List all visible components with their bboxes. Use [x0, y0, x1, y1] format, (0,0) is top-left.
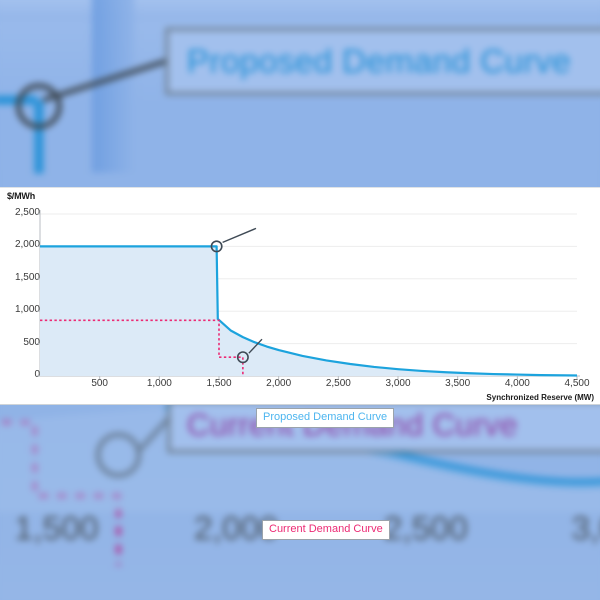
x-axis-tick-label: 500: [91, 378, 108, 389]
x-axis-tick-label: 2,000: [266, 378, 291, 389]
callout-current-demand-curve[interactable]: Current Demand Curve: [262, 520, 390, 540]
callout-proposed-demand-curve[interactable]: Proposed Demand Curve: [256, 408, 394, 428]
x-axis-tick-label: 1,500: [206, 378, 231, 389]
background-callout-proposed-label: Proposed Demand Curve: [187, 42, 571, 81]
plot-area: [0, 188, 600, 406]
x-axis-tick-label: 3,500: [445, 378, 470, 389]
chart-panel: $/MWh Synchronized Reserve (MW) 05001,00…: [0, 187, 600, 405]
x-axis-tick-label: 1,000: [147, 378, 172, 389]
x-axis-tick-label: 3,000: [385, 378, 410, 389]
slide-stage: Proposed Demand Curve Current Demand Cur…: [0, 0, 600, 600]
background-callout-proposed: Proposed Demand Curve: [165, 28, 600, 95]
background-x-tick: 1,500: [14, 509, 98, 548]
x-axis-tick-label: 2,500: [326, 378, 351, 389]
x-axis-tick-label: 4,500: [564, 378, 589, 389]
background-x-tick: 3,0: [571, 509, 600, 548]
background-x-tick: 2,500: [384, 509, 468, 548]
x-axis-tick-label: 4,000: [505, 378, 530, 389]
